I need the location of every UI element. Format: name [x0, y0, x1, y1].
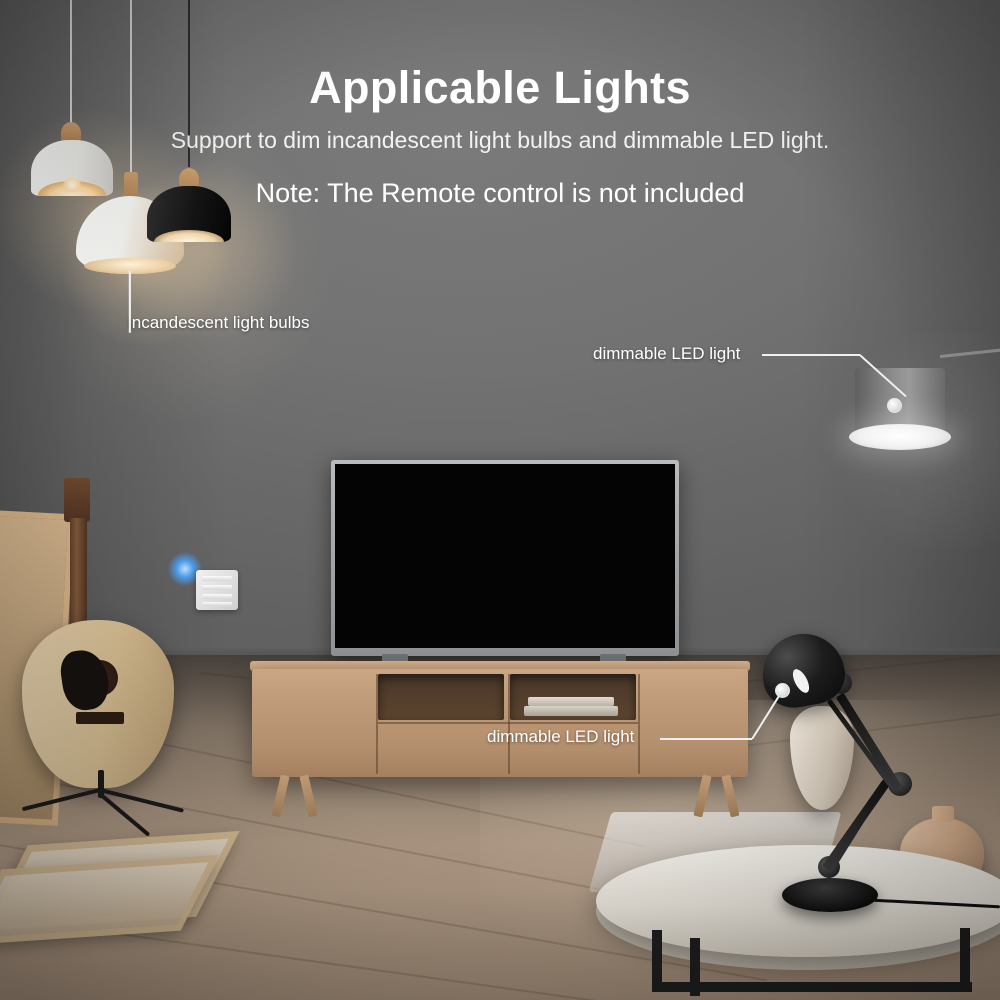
console-door-seam — [508, 674, 510, 774]
console-niche-left — [378, 674, 504, 720]
coffee-table-leg — [960, 928, 970, 988]
console-drawer-seam — [378, 722, 638, 724]
switch-rocker[interactable] — [202, 594, 232, 599]
annotation-leader-led-wall-h — [762, 354, 860, 356]
annotation-leader-led-desk-h — [660, 738, 752, 740]
switch-rocker[interactable] — [202, 576, 232, 581]
annotation-dot-led-wall — [887, 398, 902, 413]
tv-screen — [335, 464, 675, 648]
switch-rocker[interactable] — [202, 585, 232, 590]
flat-screen-tv — [331, 460, 679, 656]
ceiling-downlight-glow — [849, 424, 951, 450]
product-scene-image: Applicable Lights Support to dim incande… — [0, 0, 1000, 1000]
console-door-seam — [376, 674, 378, 774]
wall-dimmer-switch[interactable] — [196, 570, 238, 610]
page-subtitle: Support to dim incandescent light bulbs … — [0, 127, 1000, 154]
coffee-table-stretcher — [652, 982, 972, 992]
book — [528, 697, 614, 706]
annotation-label-led-wall: dimmable LED light — [593, 344, 740, 364]
annotation-label-incandescent: incandescent light bulbs — [128, 313, 309, 333]
page-note: Note: The Remote control is not included — [0, 178, 1000, 209]
book — [524, 706, 618, 716]
annotation-dot-led-desk — [775, 683, 790, 698]
annotation-leader-incandescent — [129, 271, 131, 333]
pendant-bulb-glow-black — [154, 230, 225, 242]
round-vase-neck — [932, 806, 954, 822]
desk-lamp-base — [782, 878, 878, 912]
guitar-headstock — [64, 478, 90, 522]
console-door-seam — [638, 674, 640, 774]
annotation-label-led-desk: dimmable LED light — [487, 727, 634, 747]
guitar-bridge — [76, 712, 124, 724]
page-title: Applicable Lights — [0, 62, 1000, 114]
switch-rocker[interactable] — [202, 602, 232, 606]
